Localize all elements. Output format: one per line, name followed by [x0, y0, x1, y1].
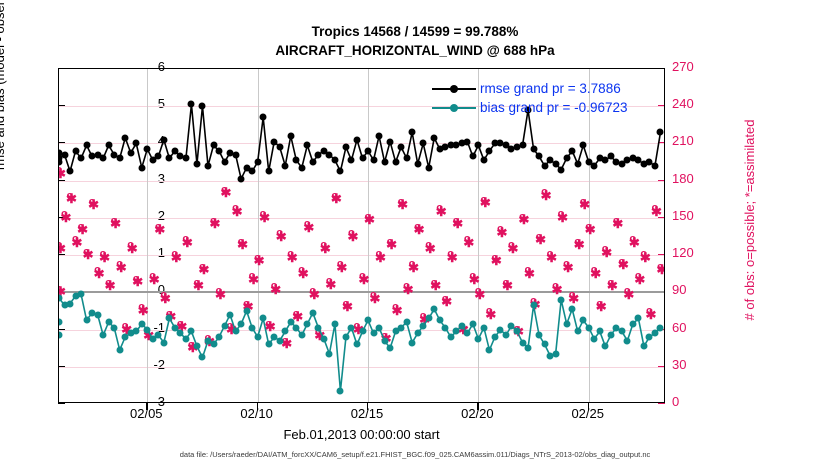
- rmse-data-point: [342, 144, 349, 151]
- rmse-data-point: [67, 168, 74, 175]
- bias-data-point: [525, 345, 532, 352]
- x-tick-label: 02/05: [106, 406, 186, 421]
- bias-data-point: [530, 302, 537, 309]
- rmse-data-point: [657, 129, 664, 136]
- bias-data-point: [78, 291, 85, 298]
- bias-data-point: [387, 345, 394, 352]
- bias-data-point: [563, 320, 570, 327]
- y-tick-label-right: 0: [672, 394, 718, 409]
- rmse-data-point: [387, 138, 394, 145]
- y-tick-label-right: 30: [672, 357, 718, 372]
- bias-data-point: [67, 300, 74, 307]
- bias-data-point: [469, 320, 476, 327]
- x-axis-label: Feb.01,2013 00:00:00 start: [0, 427, 723, 442]
- bias-data-point: [227, 311, 234, 318]
- y-tick-right: [658, 403, 665, 404]
- rmse-data-point: [558, 166, 565, 173]
- rmse-data-point: [431, 134, 438, 141]
- bias-data-point: [337, 387, 344, 394]
- rmse-data-point: [580, 142, 587, 149]
- bias-data-point: [635, 315, 642, 322]
- bias-data-point: [155, 332, 162, 339]
- rmse-data-point: [370, 157, 377, 164]
- bias-data-point: [232, 328, 239, 335]
- bias-data-point: [624, 337, 631, 344]
- bias-data-point: [475, 335, 482, 342]
- bias-data-point: [431, 306, 438, 313]
- bias-data-point: [447, 334, 454, 341]
- rmse-data-point: [376, 133, 383, 140]
- bias-data-point: [260, 315, 267, 322]
- bias-data-point: [83, 317, 90, 324]
- bias-data-point: [315, 324, 322, 331]
- bias-data-point: [188, 328, 195, 335]
- rmse-data-point: [78, 155, 85, 162]
- bias-data-point: [480, 324, 487, 331]
- rmse-data-point: [403, 155, 410, 162]
- rmse-data-point: [475, 142, 482, 149]
- rmse-data-point: [591, 162, 598, 169]
- bias-data-point: [651, 330, 658, 337]
- bias-data-point: [514, 328, 521, 335]
- bias-data-point: [425, 315, 432, 322]
- bias-data-point: [342, 334, 349, 341]
- rmse-data-point: [569, 147, 576, 154]
- legend-item-rmse[interactable]: rmse grand pr = 3.7886: [432, 79, 627, 98]
- bias-data-point: [144, 326, 151, 333]
- title-line-1: Tropics 14568 / 14599 = 99.788%: [0, 22, 830, 41]
- bias-data-point: [160, 339, 167, 346]
- bias-data-point: [458, 322, 465, 329]
- rmse-data-point: [188, 101, 195, 108]
- bias-data-point: [574, 328, 581, 335]
- bias-data-point: [403, 319, 410, 326]
- rmse-data-point: [651, 162, 658, 169]
- legend-label-rmse: rmse grand pr = 3.7886: [480, 81, 621, 96]
- y-tick-label-right: 120: [672, 245, 718, 260]
- bias-data-point: [348, 324, 355, 331]
- y-tick-label-right: 60: [672, 320, 718, 335]
- rmse-data-point: [232, 151, 239, 158]
- rmse-data-point: [414, 160, 421, 167]
- x-tick-label: 02/10: [217, 406, 297, 421]
- rmse-data-point: [249, 168, 256, 175]
- rmse-data-point: [182, 155, 189, 162]
- bias-data-point: [464, 330, 471, 337]
- rmse-data-point: [530, 146, 537, 153]
- bias-data-point: [100, 332, 107, 339]
- bias-data-point: [276, 337, 283, 344]
- bias-data-point: [602, 343, 609, 350]
- rmse-data-point: [204, 162, 211, 169]
- bias-data-point: [133, 328, 140, 335]
- y-tick-label-right: 270: [672, 59, 718, 74]
- bias-data-point: [591, 335, 598, 342]
- y-tick-label-right: 180: [672, 171, 718, 186]
- rmse-data-point: [353, 136, 360, 143]
- bias-data-point: [558, 296, 565, 303]
- rmse-data-point: [221, 159, 228, 166]
- rmse-data-point: [563, 155, 570, 162]
- bias-data-point: [442, 324, 449, 331]
- bias-data-point: [629, 320, 636, 327]
- rmse-data-point: [381, 159, 388, 166]
- rmse-data-point: [265, 168, 272, 175]
- rmse-data-point: [83, 142, 90, 149]
- bias-data-point: [580, 317, 587, 324]
- legend-label-bias: bias grand pr = -0.96723: [480, 100, 627, 115]
- plot-area: oooooooooooooooooooooooooooooooooooooooo…: [58, 68, 665, 403]
- rmse-data-point: [116, 155, 123, 162]
- rmse-data-point: [464, 138, 471, 145]
- figure-canvas: Tropics 14568 / 14599 = 99.788% AIRCRAFT…: [0, 0, 830, 470]
- rmse-data-point: [365, 147, 372, 154]
- bias-data-point: [243, 307, 250, 314]
- y-tick-label-right: 150: [672, 208, 718, 223]
- rmse-data-point: [420, 140, 427, 147]
- rmse-data-point: [287, 133, 294, 140]
- bias-data-point: [502, 332, 509, 339]
- bias-data-point: [326, 350, 333, 357]
- y-axis-label-right: # of obs: o=possible; *=assimilated: [742, 50, 757, 390]
- rmse-data-point: [160, 136, 167, 143]
- rmse-data-point: [72, 147, 79, 154]
- rmse-data-point: [337, 168, 344, 175]
- bias-data-point: [541, 341, 548, 348]
- bias-data-point: [414, 330, 421, 337]
- bias-data-point: [304, 320, 311, 327]
- rmse-data-point: [541, 162, 548, 169]
- bias-data-point: [657, 324, 664, 331]
- rmse-data-point: [536, 153, 543, 160]
- rmse-data-point: [298, 164, 305, 171]
- rmse-data-point: [398, 144, 405, 151]
- bias-data-point: [331, 320, 338, 327]
- rmse-data-point: [138, 164, 145, 171]
- bias-data-point: [216, 334, 223, 341]
- bias-data-point: [398, 324, 405, 331]
- rmse-data-point: [469, 153, 476, 160]
- y-tick-label-right: 240: [672, 96, 718, 111]
- bias-data-point: [249, 324, 256, 331]
- legend-swatch-rmse: [432, 82, 476, 96]
- bias-data-point: [585, 324, 592, 331]
- rmse-data-point: [574, 160, 581, 167]
- rmse-data-point: [293, 157, 300, 164]
- rmse-data-point: [309, 159, 316, 166]
- bias-data-point: [309, 309, 316, 316]
- bias-data-point: [320, 335, 327, 342]
- rmse-data-point: [486, 147, 493, 154]
- bias-data-point: [353, 341, 360, 348]
- bias-data-point: [376, 324, 383, 331]
- bias-data-point: [640, 343, 647, 350]
- title-line-2: AIRCRAFT_HORIZONTAL_WIND @ 688 hPa: [0, 41, 830, 60]
- bias-data-point: [569, 306, 576, 313]
- rmse-data-point: [133, 140, 140, 147]
- bias-data-point: [491, 334, 498, 341]
- rmse-data-point: [409, 129, 416, 136]
- bias-data-point: [221, 322, 228, 329]
- bias-data-point: [381, 337, 388, 344]
- bias-data-point: [193, 343, 200, 350]
- rmse-data-point: [254, 159, 261, 166]
- rmse-data-point: [238, 175, 245, 182]
- bias-data-point: [282, 328, 289, 335]
- plot-clip: oooooooooooooooooooooooooooooooooooooooo…: [59, 69, 664, 402]
- legend-item-bias[interactable]: bias grand pr = -0.96723: [432, 98, 627, 117]
- rmse-data-point: [166, 155, 173, 162]
- rmse-data-point: [144, 146, 151, 153]
- bias-data-point: [420, 322, 427, 329]
- bias-data-point: [238, 320, 245, 327]
- bias-data-point: [618, 328, 625, 335]
- bias-data-point: [116, 347, 123, 354]
- bias-data-point: [94, 311, 101, 318]
- rmse-data-point: [122, 134, 129, 141]
- chart-legend: rmse grand pr = 3.7886 bias grand pr = -…: [432, 79, 627, 117]
- rmse-data-point: [304, 142, 311, 149]
- rmse-data-point: [282, 162, 289, 169]
- rmse-data-point: [425, 164, 432, 171]
- bias-data-point: [365, 317, 372, 324]
- rmse-data-point: [127, 149, 134, 156]
- rmse-data-point: [331, 157, 338, 164]
- rmse-data-point: [260, 114, 267, 121]
- x-tick-label: 02/20: [437, 406, 517, 421]
- bias-data-point: [210, 341, 217, 348]
- bias-data-point: [254, 334, 261, 341]
- rmse-data-point: [348, 157, 355, 164]
- bias-data-point: [166, 315, 173, 322]
- legend-swatch-bias: [432, 101, 476, 115]
- bias-data-point: [293, 324, 300, 331]
- bias-data-point: [111, 324, 118, 331]
- bias-data-point: [486, 347, 493, 354]
- bias-data-point: [607, 332, 614, 339]
- rmse-data-point: [359, 155, 366, 162]
- chart-title: Tropics 14568 / 14599 = 99.788% AIRCRAFT…: [0, 22, 830, 60]
- y-tick-label-right: 90: [672, 282, 718, 297]
- bias-data-point: [199, 354, 206, 361]
- x-tick-label: 02/25: [548, 406, 628, 421]
- rmse-data-point: [392, 159, 399, 166]
- bias-data-point: [552, 350, 559, 357]
- x-tick-label: 02/15: [327, 406, 407, 421]
- series-lines-layer: [59, 69, 664, 402]
- bias-data-point: [436, 317, 443, 324]
- bias-data-point: [536, 332, 543, 339]
- bias-data-point: [359, 328, 366, 335]
- bias-data-point: [409, 339, 416, 346]
- rmse-data-point: [480, 157, 487, 164]
- y-tick-label-right: 210: [672, 133, 718, 148]
- rmse-data-point: [100, 155, 107, 162]
- bias-data-point: [298, 332, 305, 339]
- rmse-data-point: [216, 147, 223, 154]
- rmse-data-point: [199, 103, 206, 110]
- bias-data-point: [596, 328, 603, 335]
- y-axis-label-left: rmse and bias (model - observation): [0, 0, 7, 236]
- bias-data-point: [182, 335, 189, 342]
- rmse-data-point: [105, 142, 112, 149]
- y-tick-left: [58, 403, 65, 404]
- bias-data-point: [453, 328, 460, 335]
- rmse-data-point: [155, 153, 162, 160]
- bias-data-point: [370, 330, 377, 337]
- rmse-data-point: [519, 142, 526, 149]
- rmse-data-point: [276, 144, 283, 151]
- bias-data-point: [265, 341, 272, 348]
- rmse-data-point: [193, 160, 200, 167]
- data-file-caption: data file: /Users/raeder/DAI/ATM_forcXX/…: [0, 450, 830, 459]
